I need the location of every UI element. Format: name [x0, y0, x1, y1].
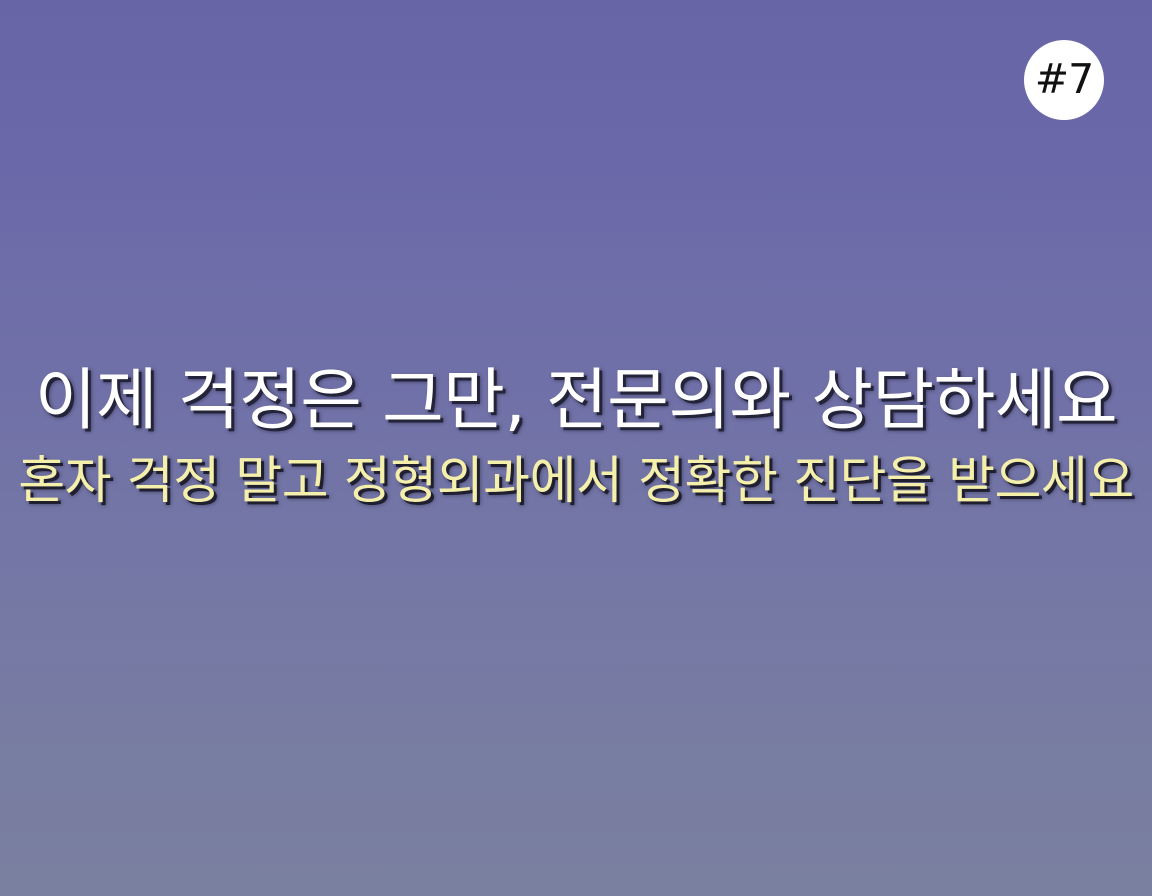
headline-text: 이제 걱정은 그만, 전문의와 상담하세요: [0, 362, 1152, 440]
slide-canvas: #7 이제 걱정은 그만, 전문의와 상담하세요 혼자 걱정 말고 정형외과에서…: [0, 0, 1152, 896]
number-badge-label: #7: [1035, 59, 1093, 100]
subhead-text: 혼자 걱정 말고 정형외과에서 정확한 진단을 받으세요: [0, 452, 1152, 511]
number-badge: #7: [1024, 40, 1104, 120]
slide-text-block: 이제 걱정은 그만, 전문의와 상담하세요 혼자 걱정 말고 정형외과에서 정확…: [0, 362, 1152, 511]
